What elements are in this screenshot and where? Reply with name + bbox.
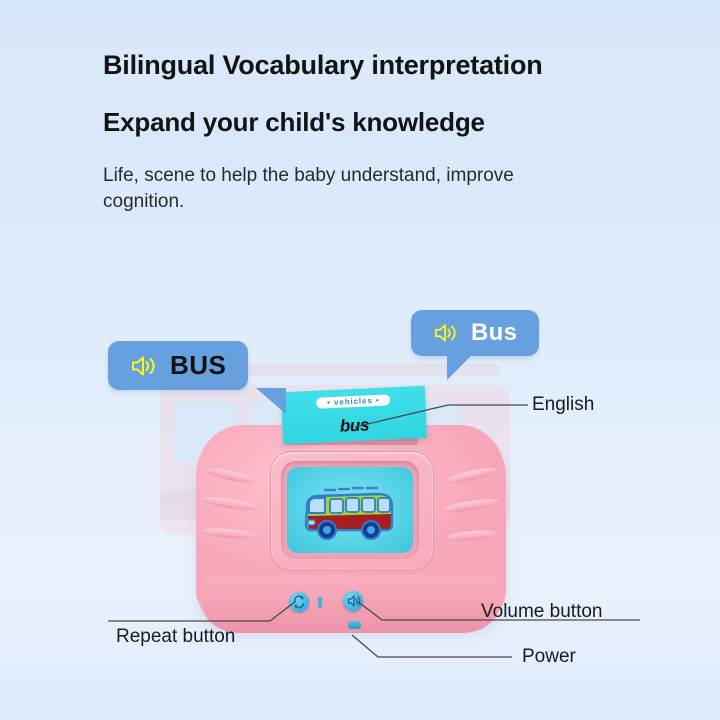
learning-device <box>196 425 506 640</box>
speaker-icon <box>433 322 458 344</box>
marketing-copy: Bilingual Vocabulary interpretation Expa… <box>103 50 663 215</box>
speech-bubble-english-audio: Bus <box>411 310 539 356</box>
bubble-text: Bus <box>471 319 517 347</box>
speech-bubble-chinese-audio: BUS <box>108 341 248 390</box>
card-category-badge: • vehicles • <box>316 394 391 408</box>
volume-button[interactable] <box>343 591 363 611</box>
screen-bezel-inner <box>281 461 419 559</box>
product-marketing-image: Bilingual Vocabulary interpretation Expa… <box>0 0 720 720</box>
repeat-button[interactable] <box>289 592 309 612</box>
power-switch[interactable] <box>348 621 361 629</box>
bubble-tail <box>447 354 473 380</box>
callout-repeat-button: Repeat button <box>116 626 235 648</box>
flash-card: • vehicles • bus <box>281 386 427 444</box>
callout-english: English <box>532 394 594 416</box>
volume-icon <box>343 591 363 611</box>
device-screen <box>287 467 413 553</box>
screen-bezel <box>270 451 434 571</box>
card-word: bus <box>339 415 369 436</box>
bubble-text: BUS <box>170 350 226 381</box>
page-title: Bilingual Vocabulary interpretation <box>103 50 663 81</box>
speaker-icon <box>130 354 157 378</box>
callout-power: Power <box>522 646 576 668</box>
bubble-tail <box>256 388 286 414</box>
page-subtitle: Expand your child's knowledge <box>103 108 663 138</box>
bus-illustration <box>287 467 413 553</box>
led-indicator <box>318 597 322 608</box>
callout-volume-button: Volume button <box>481 601 602 623</box>
repeat-icon <box>289 592 309 612</box>
page-description: Life, scene to help the baby understand,… <box>103 163 573 215</box>
